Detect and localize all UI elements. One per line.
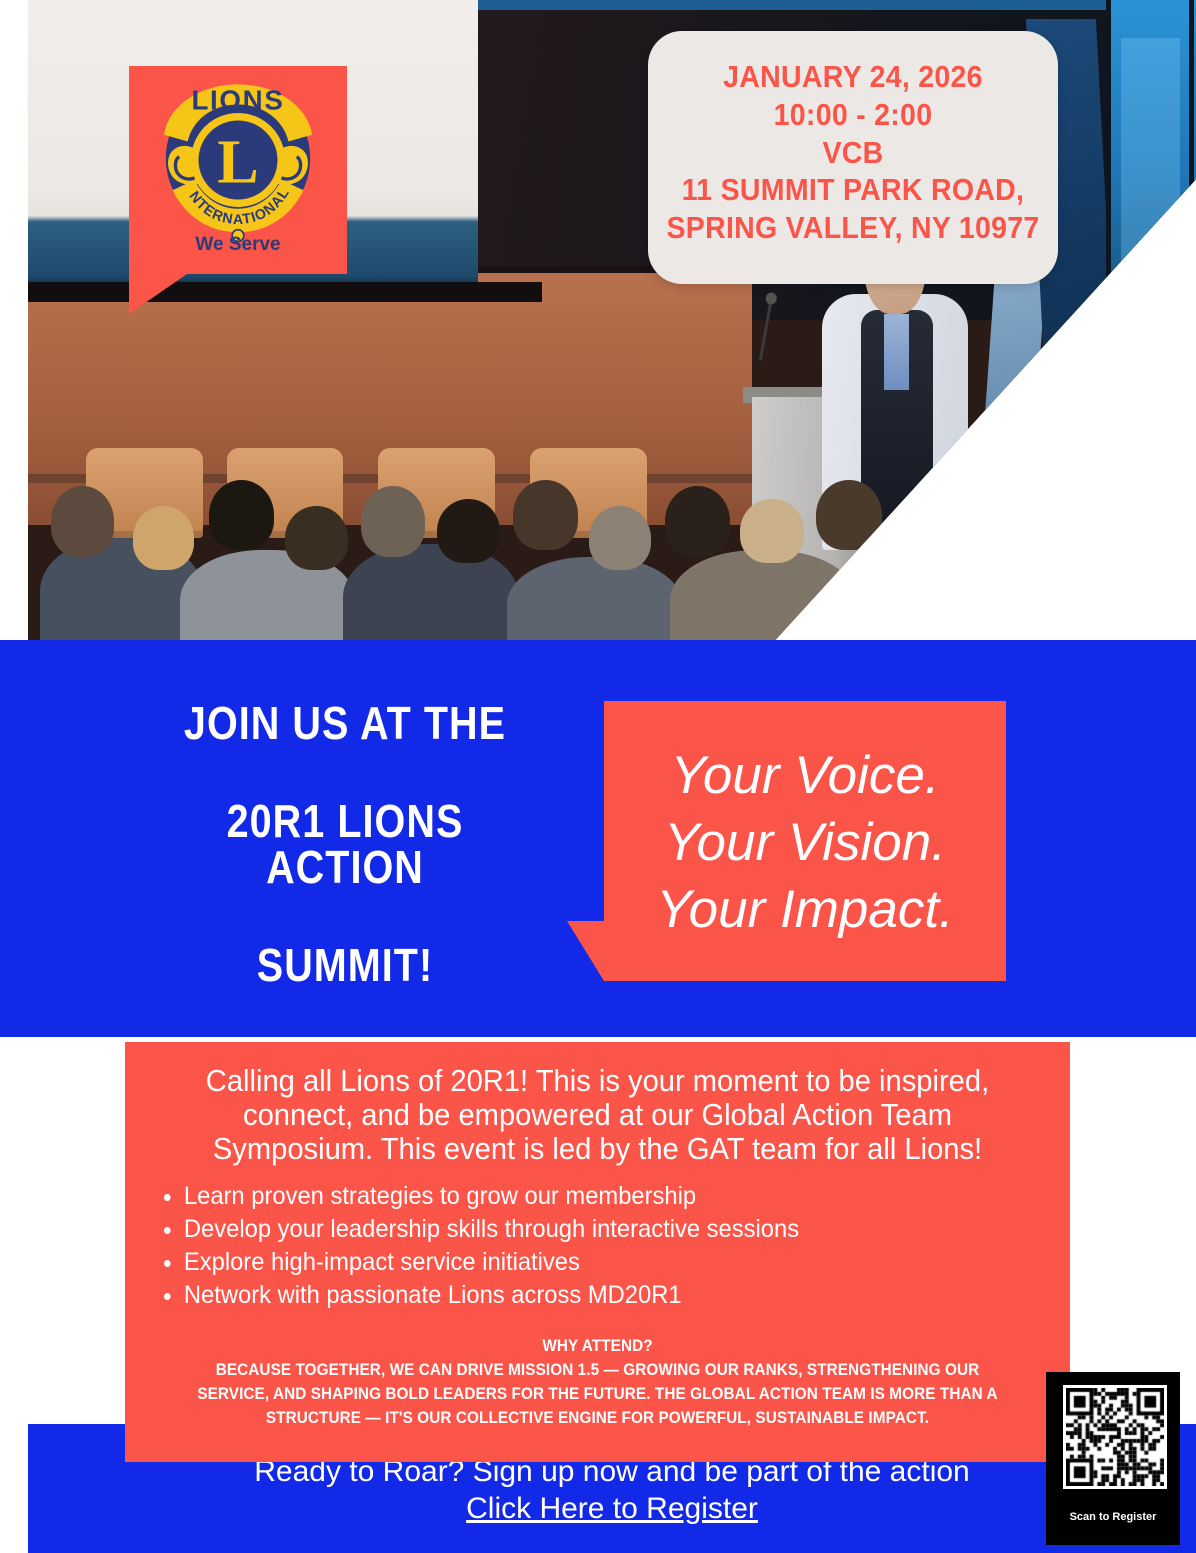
headline-line-1: JOIN US AT THE	[143, 700, 547, 746]
screen-bottom-bar	[28, 282, 542, 302]
audience-head	[816, 480, 881, 550]
audience-head	[285, 506, 348, 570]
tagline-bubble-tail	[567, 921, 604, 981]
list-item: Explore high-impact service initiatives	[184, 1246, 1023, 1279]
window-glare	[1121, 38, 1179, 281]
list-item: Learn proven strategies to grow our memb…	[184, 1180, 1023, 1213]
event-details-text: JANUARY 24, 2026 10:00 - 2:00 VCB 11 SUM…	[664, 58, 1041, 247]
qr-code-icon	[1063, 1385, 1167, 1489]
page-title: JOIN US AT THE 20R1 LIONS ACTION SUMMIT!	[143, 700, 547, 988]
content-card: Calling all Lions of 20R1! This is your …	[125, 1042, 1070, 1462]
audience-head	[892, 506, 955, 570]
benefits-list: Learn proven strategies to grow our memb…	[125, 1180, 1023, 1312]
svg-text:LIONS: LIONS	[191, 85, 284, 116]
audience-head	[1120, 486, 1185, 556]
audience-head	[513, 480, 578, 550]
list-item: Network with passionate Lions across MD2…	[184, 1279, 1023, 1312]
tagline-line-1: Your Voice.	[604, 743, 1006, 810]
event-date: JANUARY 24, 2026	[664, 58, 1041, 96]
event-street: 11 SUMMIT PARK ROAD,	[664, 171, 1041, 209]
why-attend-body: BECAUSE TOGETHER, WE CAN DRIVE MISSION 1…	[187, 1358, 1009, 1430]
audience-head	[437, 499, 500, 563]
lions-international-emblem: LIONS L INTERNATIONAL	[154, 76, 322, 244]
headline-line-2: 20R1 LIONS ACTION	[143, 798, 547, 890]
audience-shoulder	[507, 557, 682, 640]
tagline-line-3: Your Impact.	[604, 877, 1006, 944]
list-item: Develop your leadership skills through i…	[184, 1213, 1023, 1246]
audience-head	[740, 499, 803, 563]
headline-line-3: SUMMIT!	[143, 942, 547, 988]
event-venue: VCB	[664, 134, 1041, 172]
audience-shoulder	[670, 550, 857, 640]
audience-head	[133, 506, 194, 570]
event-time: 10:00 - 2:00	[664, 96, 1041, 134]
why-attend-title: WHY ATTEND?	[187, 1334, 1009, 1358]
qr-caption: Scan to Register	[1046, 1511, 1180, 1523]
footer-cta: Ready to Roar? Sign up now and be part o…	[28, 1454, 1196, 1527]
audience-head	[361, 486, 425, 556]
qr-card[interactable]: Scan to Register	[1046, 1372, 1180, 1545]
lions-logo-bubble: LIONS L INTERNATIONAL We Serve	[129, 66, 347, 274]
headline-band: JOIN US AT THE 20R1 LIONS ACTION SUMMIT!…	[0, 640, 1196, 1037]
tagline-text: Your Voice. Your Vision. Your Impact.	[604, 743, 1006, 943]
intro-paragraph: Calling all Lions of 20R1! This is your …	[153, 1042, 1041, 1166]
event-city-state: SPRING VALLEY, NY 10977	[664, 209, 1041, 247]
audience-head	[665, 486, 730, 556]
window-mullion	[1189, 0, 1194, 371]
svg-text:L: L	[217, 129, 258, 197]
audience-shoulder	[997, 550, 1196, 640]
lions-motto: We Serve	[129, 234, 347, 256]
speaker-tie	[884, 314, 909, 391]
register-link[interactable]: Click Here to Register	[466, 1491, 758, 1528]
window-mullion	[1106, 0, 1111, 371]
event-details-card: JANUARY 24, 2026 10:00 - 2:00 VCB 11 SUM…	[648, 31, 1058, 284]
why-attend-block: WHY ATTEND? BECAUSE TOGETHER, WE CAN DRI…	[187, 1334, 1009, 1431]
audience-head	[1044, 499, 1108, 563]
audience-head	[51, 486, 114, 556]
audience-head	[589, 506, 651, 570]
tagline-bubble: Your Voice. Your Vision. Your Impact.	[604, 701, 1006, 981]
audience-shoulder	[834, 544, 1021, 640]
audience-head	[209, 480, 274, 550]
audience-shoulder	[343, 544, 518, 640]
audience-head	[968, 486, 1033, 556]
tagline-line-2: Your Vision.	[604, 810, 1006, 877]
